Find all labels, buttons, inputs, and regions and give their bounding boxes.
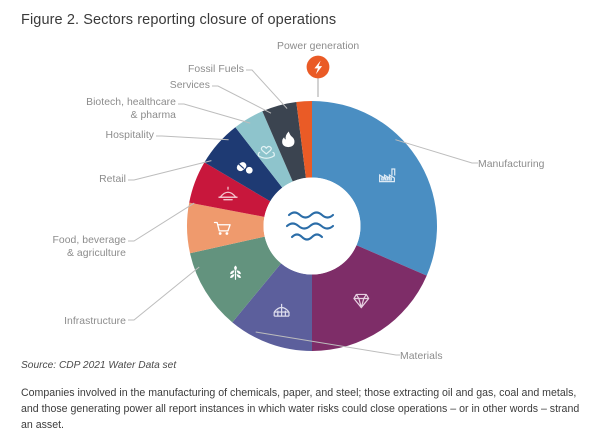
donut-slice[interactable]	[262, 102, 306, 182]
label-food-beverage-agriculture: Food, beverage & agriculture	[10, 234, 126, 260]
bridge-icon	[274, 304, 289, 316]
leader-line	[178, 104, 250, 123]
shopping-cart-icon	[215, 222, 231, 234]
label-fossil-fuels: Fossil Fuels	[148, 63, 244, 76]
leader-line	[395, 140, 478, 163]
donut-slice[interactable]	[312, 245, 427, 351]
donut-slice[interactable]	[296, 101, 312, 178]
donut-slice[interactable]	[204, 127, 282, 201]
donut-slice[interactable]	[190, 237, 281, 323]
flame-icon	[282, 132, 294, 148]
leader-line-group	[128, 70, 478, 355]
figure-caption: Companies involved in the manufacturing …	[21, 385, 587, 433]
label-hospitality: Hospitality	[46, 129, 154, 142]
label-biotech-healthcare-pharma: Biotech, healthcare & pharma	[56, 96, 176, 122]
factory-icon	[380, 169, 395, 182]
source-note: Source: CDP 2021 Water Data set	[21, 360, 176, 371]
figure-container: Figure 2. Sectors reporting closure of o…	[0, 0, 600, 427]
leader-line	[246, 70, 287, 109]
label-retail: Retail	[52, 173, 126, 186]
leader-line	[156, 136, 229, 140]
pill-icon	[235, 161, 252, 174]
power-generation-badge-icon	[307, 56, 330, 97]
wheat-icon	[230, 266, 241, 280]
leader-line	[256, 332, 400, 355]
label-services: Services	[130, 79, 210, 92]
donut-slice[interactable]	[189, 162, 270, 217]
donut-slice[interactable]	[232, 263, 312, 351]
donut-slice[interactable]	[312, 101, 437, 276]
donut-slice[interactable]	[235, 111, 292, 187]
label-materials: Materials	[400, 350, 443, 363]
leader-line	[128, 267, 199, 320]
leader-line	[128, 161, 211, 180]
hand-heart-icon	[258, 146, 274, 158]
gem-icon	[354, 294, 369, 307]
label-manufacturing: Manufacturing	[478, 158, 545, 171]
water-waves-icon	[287, 213, 333, 240]
donut-slice-group	[187, 101, 437, 351]
donut-slice[interactable]	[187, 203, 265, 254]
donut-center-hole	[264, 178, 361, 275]
food-dome-icon	[219, 187, 237, 199]
leader-line	[128, 203, 194, 241]
label-infrastructure: Infrastructure	[28, 315, 126, 328]
label-power-generation: Power generation	[277, 40, 359, 53]
page-title: Figure 2. Sectors reporting closure of o…	[21, 12, 336, 28]
leader-line	[212, 86, 271, 113]
slice-icon-group	[215, 132, 395, 317]
